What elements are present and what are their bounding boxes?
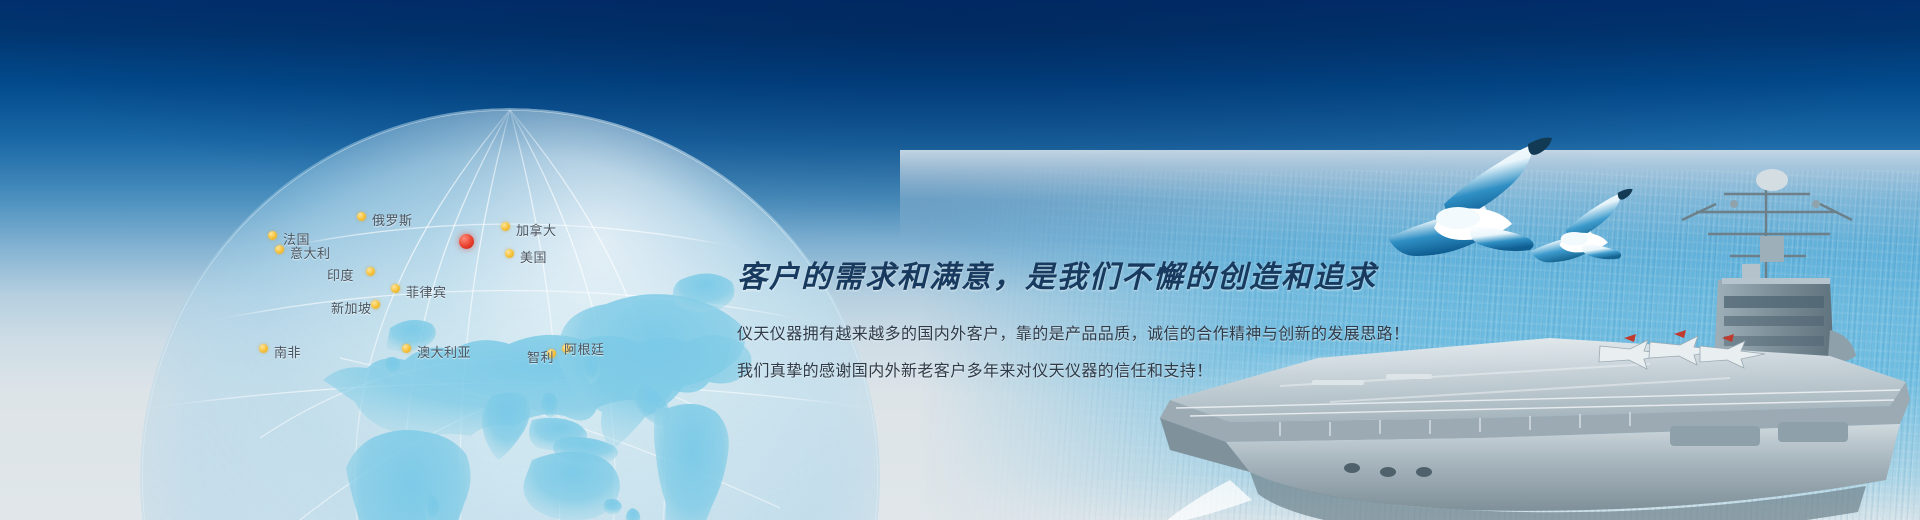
map-marker-label: 阿根廷 <box>564 339 605 358</box>
map-marker-highlight <box>459 234 474 249</box>
banner-headline: 客户的需求和满意，是我们不懈的创造和追求 <box>737 258 1409 298</box>
map-marker-label: 南非 <box>274 342 301 361</box>
map-marker-label: 菲律宾 <box>406 282 447 301</box>
map-marker-7 <box>402 344 411 353</box>
map-marker-label: 印度 <box>327 265 354 284</box>
radar-dome <box>1756 169 1788 191</box>
hero-banner: 法国意大利俄罗斯印度新加坡菲律宾南非澳大利亚加拿大美国智利阿根廷 <box>0 0 1920 520</box>
map-marker-label: 俄罗斯 <box>372 210 413 229</box>
banner-subline-1: 仪天仪器拥有越来越多的国内外客户，靠的是产品品质，诚信的合作精神与创新的发展思路… <box>737 316 1409 353</box>
map-marker-9 <box>505 249 514 258</box>
map-marker-label: 意大利 <box>290 243 331 262</box>
map-marker-2 <box>357 212 366 221</box>
map-marker-0 <box>268 231 277 240</box>
banner-subline-2: 我们真挚的感谢国内外新老客户多年来对仪天仪器的信任和支持！ <box>737 353 1409 390</box>
banner-copy-block: 客户的需求和满意，是我们不懈的创造和追求 仪天仪器拥有越来越多的国内外客户，靠的… <box>737 258 1409 390</box>
map-marker-6 <box>259 344 268 353</box>
map-marker-label: 加拿大 <box>516 220 557 239</box>
map-marker-5 <box>391 284 400 293</box>
map-marker-3 <box>366 267 375 276</box>
map-marker-label: 美国 <box>520 247 547 266</box>
map-marker-label: 澳大利亚 <box>417 342 471 361</box>
map-marker-8 <box>501 222 510 231</box>
map-marker-label: 智利 <box>527 347 554 366</box>
map-marker-label: 新加坡 <box>331 298 372 317</box>
map-marker-1 <box>275 245 284 254</box>
